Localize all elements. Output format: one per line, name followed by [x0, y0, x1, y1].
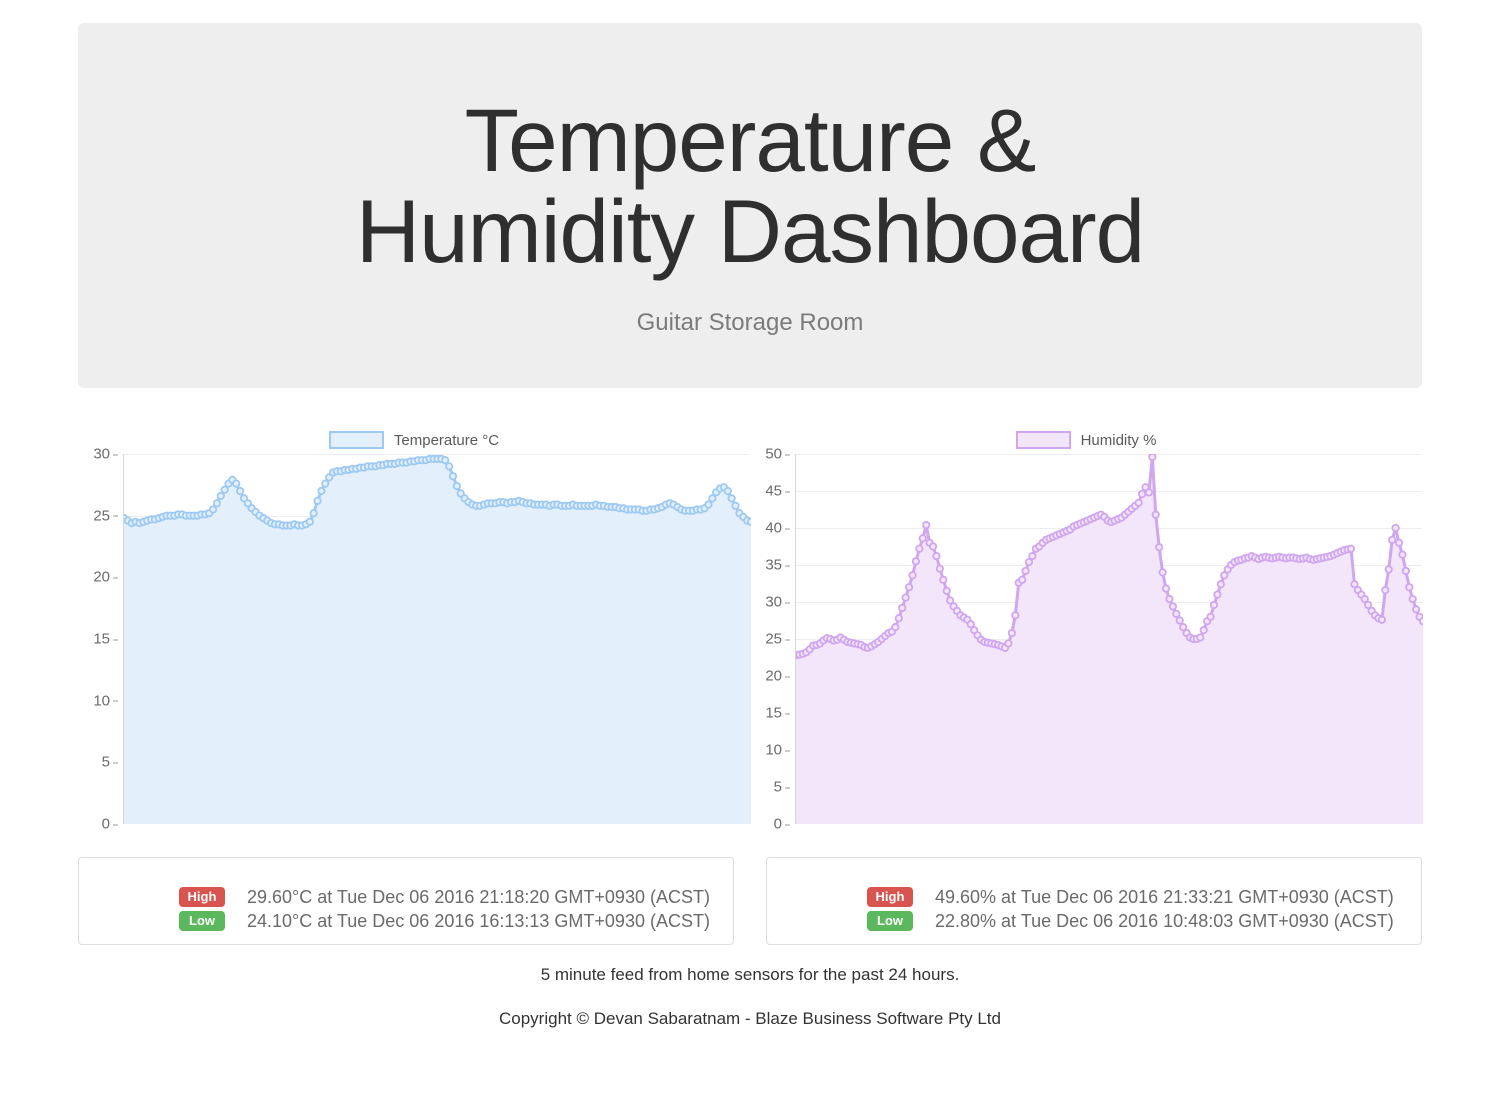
series-plot: [124, 454, 751, 824]
y-axis-tick-label: 35: [765, 557, 782, 574]
stats-row: High 29.60°C at Tue Dec 06 2016 21:18:20…: [78, 857, 1422, 945]
y-axis-tick-label: 50: [765, 446, 782, 463]
data-point-marker: [899, 605, 905, 611]
y-axis-tick-label: 20: [93, 569, 110, 586]
data-point-marker: [1163, 585, 1169, 591]
humidity-legend-label: Humidity %: [1081, 432, 1157, 449]
data-point-marker: [709, 495, 715, 501]
data-point-marker: [218, 493, 224, 499]
y-axis-tick-label: 0: [102, 816, 110, 833]
data-point-marker: [307, 519, 313, 525]
data-point-marker: [1382, 587, 1388, 593]
y-axis-tick-label: 45: [765, 483, 782, 500]
humidity-legend: Humidity %: [750, 428, 1422, 452]
data-point-marker: [937, 566, 943, 572]
temperature-high-row: High 29.60°C at Tue Dec 06 2016 21:18:20…: [179, 885, 710, 909]
page-subtitle: Guitar Storage Room: [78, 309, 1422, 337]
humidity-y-axis: 50454035302520151050: [750, 454, 790, 840]
charts-row: Temperature °C 302520151050 Humidity % 5…: [78, 420, 1422, 840]
data-point-marker: [732, 503, 738, 509]
temperature-plot-area: [123, 454, 750, 824]
data-point-marker: [454, 483, 460, 489]
data-point-marker: [1022, 568, 1028, 574]
data-point-marker: [1177, 617, 1183, 623]
data-point-marker: [913, 558, 919, 564]
data-point-marker: [310, 510, 316, 516]
data-point-marker: [1173, 611, 1179, 617]
data-point-marker: [1153, 511, 1159, 517]
data-point-marker: [705, 501, 711, 507]
data-point-marker: [1135, 500, 1141, 506]
y-axis-tick-label: 10: [765, 742, 782, 759]
temperature-chart: Temperature °C 302520151050: [78, 420, 750, 840]
series-plot: [796, 454, 1423, 824]
temperature-high-text: 29.60°C at Tue Dec 06 2016 21:18:20 GMT+…: [247, 887, 710, 908]
temperature-legend-swatch: [329, 431, 384, 449]
humidity-low-row: Low 22.80% at Tue Dec 06 2016 10:48:03 G…: [867, 909, 1394, 933]
data-point-marker: [1139, 491, 1145, 497]
series-area-fill: [124, 459, 751, 824]
status-badge-high: High: [867, 887, 913, 907]
data-point-marker: [1170, 603, 1176, 609]
data-point-marker: [1410, 596, 1416, 602]
status-badge-low: Low: [867, 911, 913, 931]
data-point-marker: [1149, 454, 1155, 460]
status-badge-low: Low: [179, 911, 225, 931]
footer-note: 5 minute feed from home sensors for the …: [0, 965, 1500, 985]
data-point-marker: [902, 594, 908, 600]
y-axis-tick-label: 5: [102, 754, 110, 771]
data-point-marker: [1218, 581, 1224, 587]
data-point-marker: [210, 506, 216, 512]
data-point-marker: [940, 577, 946, 583]
data-point-marker: [1207, 614, 1213, 620]
humidity-stats-panel: High 49.60% at Tue Dec 06 2016 21:33:21 …: [766, 857, 1422, 945]
temperature-legend-label: Temperature °C: [394, 432, 499, 449]
y-axis-tick-label: 25: [765, 631, 782, 648]
data-point-marker: [237, 488, 243, 494]
temperature-low-text: 24.10°C at Tue Dec 06 2016 16:13:13 GMT+…: [247, 911, 710, 932]
humidity-plot-area: [795, 454, 1422, 824]
data-point-marker: [944, 588, 950, 594]
page-header-jumbotron: Temperature & Humidity Dashboard Guitar …: [78, 23, 1422, 388]
page-title: Temperature & Humidity Dashboard: [310, 95, 1190, 277]
temperature-legend: Temperature °C: [78, 428, 750, 452]
y-axis-tick-label: 30: [93, 446, 110, 463]
temperature-y-axis: 302520151050: [78, 454, 118, 840]
y-axis-tick-label: 30: [765, 594, 782, 611]
data-point-marker: [1012, 612, 1018, 618]
data-point-marker: [1156, 544, 1162, 550]
data-point-marker: [1406, 584, 1412, 590]
data-point-marker: [933, 553, 939, 559]
data-point-marker: [930, 543, 936, 549]
footer-copyright: Copyright © Devan Sabaratnam - Blaze Bus…: [0, 1009, 1500, 1029]
data-point-marker: [1005, 640, 1011, 646]
data-point-marker: [1379, 617, 1385, 623]
data-point-marker: [1146, 489, 1152, 495]
data-point-marker: [233, 480, 239, 486]
y-axis-tick-label: 20: [765, 668, 782, 685]
data-point-marker: [314, 498, 320, 504]
data-point-marker: [1420, 618, 1423, 624]
data-point-marker: [1197, 634, 1203, 640]
data-point-marker: [1396, 540, 1402, 546]
humidity-high-text: 49.60% at Tue Dec 06 2016 21:33:21 GMT+0…: [935, 887, 1394, 908]
y-axis-tick-label: 25: [93, 507, 110, 524]
status-badge-high: High: [179, 887, 225, 907]
data-point-marker: [442, 457, 448, 463]
humidity-chart: Humidity % 50454035302520151050: [750, 420, 1422, 840]
humidity-high-row: High 49.60% at Tue Dec 06 2016 21:33:21 …: [867, 885, 1394, 909]
data-point-marker: [1029, 553, 1035, 559]
data-point-marker: [1201, 627, 1207, 633]
data-point-marker: [1386, 566, 1392, 572]
dashboard-page: Temperature & Humidity Dashboard Guitar …: [0, 0, 1500, 1096]
data-point-marker: [318, 488, 324, 494]
data-point-marker: [1389, 537, 1395, 543]
data-point-marker: [728, 495, 734, 501]
series-area-fill: [796, 457, 1423, 824]
humidity-legend-swatch: [1016, 431, 1071, 449]
data-point-marker: [322, 480, 328, 486]
y-axis-tick-label: 5: [774, 779, 782, 796]
y-axis-tick-label: 0: [774, 816, 782, 833]
data-point-marker: [450, 473, 456, 479]
temperature-stats-panel: High 29.60°C at Tue Dec 06 2016 21:18:20…: [78, 857, 734, 945]
data-point-marker: [214, 500, 220, 506]
data-point-marker: [906, 584, 912, 590]
y-axis-tick-label: 15: [765, 705, 782, 722]
data-point-marker: [1392, 525, 1398, 531]
data-point-marker: [1019, 577, 1025, 583]
data-point-marker: [923, 522, 929, 528]
humidity-low-text: 22.80% at Tue Dec 06 2016 10:48:03 GMT+0…: [935, 911, 1394, 932]
data-point-marker: [1009, 630, 1015, 636]
y-axis-tick-label: 15: [93, 631, 110, 648]
data-point-marker: [1348, 546, 1354, 552]
data-point-marker: [896, 615, 902, 621]
y-axis-tick-label: 10: [93, 692, 110, 709]
data-point-marker: [1413, 606, 1419, 612]
data-point-marker: [916, 546, 922, 552]
data-point-marker: [892, 624, 898, 630]
humidity-plot: 50454035302520151050: [750, 454, 1422, 840]
data-point-marker: [1166, 596, 1172, 602]
data-point-marker: [725, 488, 731, 494]
data-point-marker: [221, 487, 227, 493]
data-point-marker: [1214, 591, 1220, 597]
y-axis-tick-label: 40: [765, 520, 782, 537]
data-point-marker: [1159, 569, 1165, 575]
temperature-low-row: Low 24.10°C at Tue Dec 06 2016 16:13:13 …: [179, 909, 710, 933]
data-point-marker: [1403, 568, 1409, 574]
temperature-plot: 302520151050: [78, 454, 750, 840]
data-point-marker: [920, 535, 926, 541]
page-footer: 5 minute feed from home sensors for the …: [0, 965, 1500, 1029]
data-point-marker: [1211, 602, 1217, 608]
data-point-marker: [1399, 551, 1405, 557]
data-point-marker: [446, 463, 452, 469]
data-point-marker: [909, 572, 915, 578]
